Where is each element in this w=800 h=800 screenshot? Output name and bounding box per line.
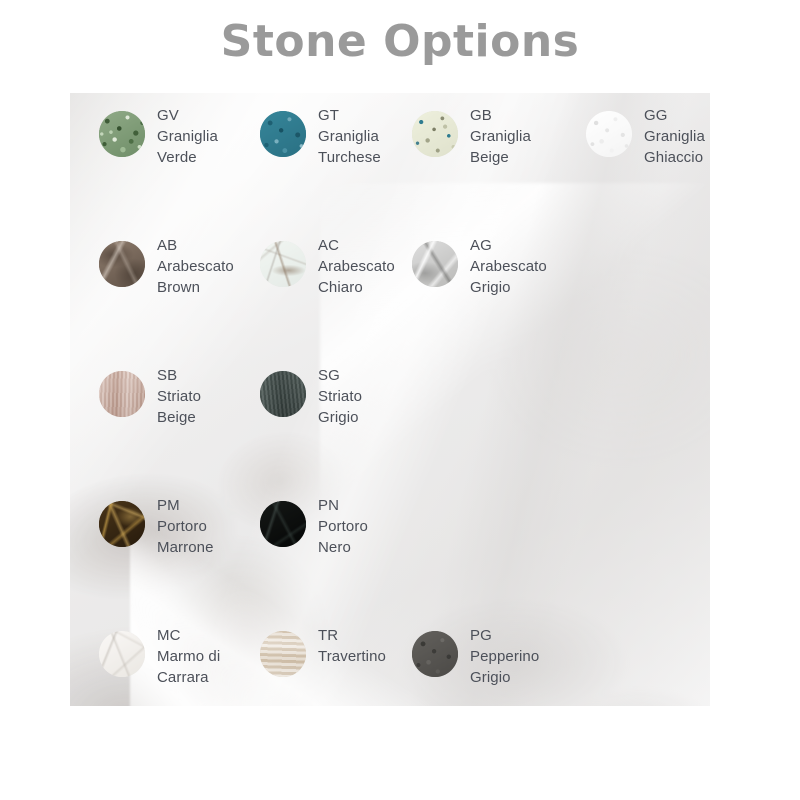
stone-options-row: AB Arabescato BrownAC Arabescato ChiaroA… [70, 235, 710, 297]
swatch-arabescato-grigio[interactable] [412, 241, 458, 287]
stone-option-gv[interactable]: GV Graniglia Verde [99, 105, 218, 168]
swatch-striato-grigio[interactable] [260, 371, 306, 417]
swatch-travertino[interactable] [260, 631, 306, 677]
swatch-arabescato-brown[interactable] [99, 241, 145, 287]
stone-options-page: Stone Options GV Graniglia VerdeGT Grani… [0, 0, 800, 800]
stone-option-label: TR Travertino [318, 625, 386, 667]
swatch-texture-pg [412, 631, 458, 677]
swatch-texture-gv [99, 111, 145, 157]
swatch-texture-pm [99, 501, 145, 547]
stone-option-sb[interactable]: SB Striato Beige [99, 365, 201, 428]
stone-options-row: SB Striato BeigeSG Striato Grigio [70, 365, 710, 427]
stone-option-ab[interactable]: AB Arabescato Brown [99, 235, 234, 298]
swatch-texture-sb [99, 371, 145, 417]
stone-option-label: SB Striato Beige [157, 365, 201, 428]
stone-option-label: GV Graniglia Verde [157, 105, 218, 168]
stone-options-row: PM Portoro MarronePN Portoro Nero [70, 495, 710, 557]
stone-options-grid: GV Graniglia VerdeGT Graniglia TurcheseG… [70, 93, 710, 706]
stone-option-label: GB Graniglia Beige [470, 105, 531, 168]
swatch-portoro-marrone[interactable] [99, 501, 145, 547]
stone-texture-panel: GV Graniglia VerdeGT Graniglia TurcheseG… [70, 93, 710, 706]
stone-option-gb[interactable]: GB Graniglia Beige [412, 105, 531, 168]
swatch-striato-beige[interactable] [99, 371, 145, 417]
stone-option-label: PM Portoro Marrone [157, 495, 214, 558]
swatch-texture-gg [586, 111, 632, 157]
swatch-texture-ag [412, 241, 458, 287]
swatch-graniglia-verde[interactable] [99, 111, 145, 157]
stone-option-label: AB Arabescato Brown [157, 235, 234, 298]
stone-option-gg[interactable]: GG Graniglia Ghiaccio [586, 105, 705, 168]
stone-option-pn[interactable]: PN Portoro Nero [260, 495, 368, 558]
stone-option-mc[interactable]: MC Marmo di Carrara [99, 625, 220, 688]
stone-option-label: GG Graniglia Ghiaccio [644, 105, 705, 168]
swatch-texture-gb [412, 111, 458, 157]
swatch-arabescato-chiaro[interactable] [260, 241, 306, 287]
swatch-graniglia-beige[interactable] [412, 111, 458, 157]
page-title: Stone Options [0, 14, 800, 70]
swatch-texture-tr [260, 631, 306, 677]
stone-option-label: SG Striato Grigio [318, 365, 362, 428]
stone-option-pg[interactable]: PG Pepperino Grigio [412, 625, 539, 688]
stone-option-pm[interactable]: PM Portoro Marrone [99, 495, 214, 558]
swatch-texture-sg [260, 371, 306, 417]
stone-option-ag[interactable]: AG Arabescato Grigio [412, 235, 547, 298]
swatch-graniglia-turchese[interactable] [260, 111, 306, 157]
swatch-texture-pn [260, 501, 306, 547]
swatch-pepperino-grigio[interactable] [412, 631, 458, 677]
stone-option-label: GT Graniglia Turchese [318, 105, 381, 168]
swatch-texture-ab [99, 241, 145, 287]
swatch-texture-mc [99, 631, 145, 677]
stone-option-tr[interactable]: TR Travertino [260, 625, 386, 677]
stone-option-label: PG Pepperino Grigio [470, 625, 539, 688]
stone-option-sg[interactable]: SG Striato Grigio [260, 365, 362, 428]
swatch-texture-gt [260, 111, 306, 157]
stone-options-row: MC Marmo di CarraraTR TravertinoPG Peppe… [70, 625, 710, 687]
swatch-marmo-di-carrara[interactable] [99, 631, 145, 677]
stone-option-gt[interactable]: GT Graniglia Turchese [260, 105, 381, 168]
stone-option-label: MC Marmo di Carrara [157, 625, 220, 688]
stone-option-ac[interactable]: AC Arabescato Chiaro [260, 235, 395, 298]
swatch-graniglia-ghiaccio[interactable] [586, 111, 632, 157]
stone-options-row: GV Graniglia VerdeGT Graniglia TurcheseG… [70, 105, 710, 167]
stone-option-label: AG Arabescato Grigio [470, 235, 547, 298]
swatch-texture-ac [260, 241, 306, 287]
stone-option-label: AC Arabescato Chiaro [318, 235, 395, 298]
stone-option-label: PN Portoro Nero [318, 495, 368, 558]
swatch-portoro-nero[interactable] [260, 501, 306, 547]
